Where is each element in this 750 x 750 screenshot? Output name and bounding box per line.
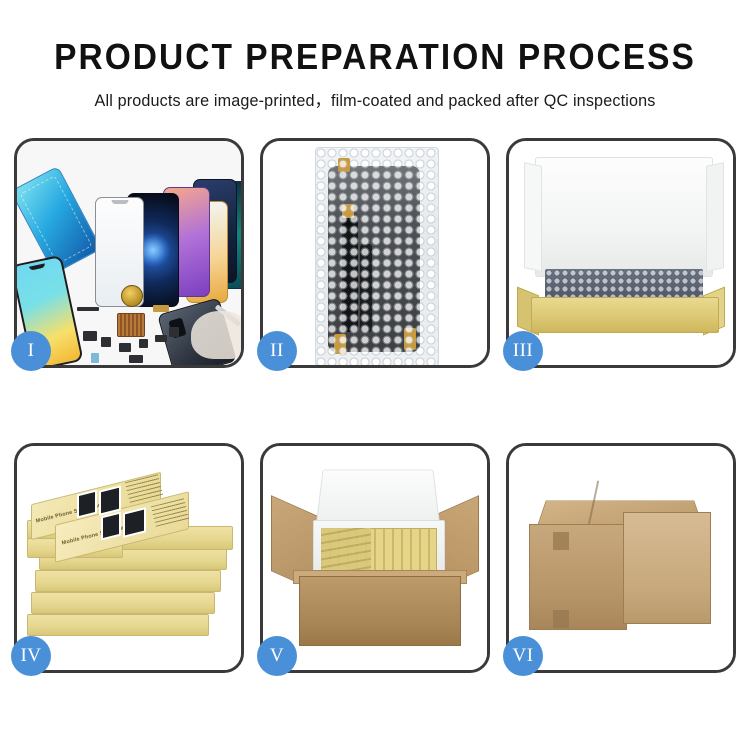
small-part xyxy=(153,305,169,312)
bubble-wrap-bag xyxy=(315,147,439,365)
carton-front-face xyxy=(529,524,627,630)
page-header: PRODUCT PREPARATION PROCESS All products… xyxy=(0,0,750,111)
carton-side-face xyxy=(623,512,711,624)
step-badge-4: IV xyxy=(11,636,51,676)
step-badge-3: III xyxy=(503,331,543,371)
packed-yellow-boxes xyxy=(321,528,371,570)
small-part xyxy=(155,335,167,342)
yellow-box-front xyxy=(531,297,719,333)
small-part xyxy=(101,337,111,347)
white-box-lid xyxy=(535,157,713,277)
box-window xyxy=(77,490,97,519)
step-2-image xyxy=(263,141,487,365)
step-badge-1: I xyxy=(11,331,51,371)
process-step-grid: I II xyxy=(14,138,736,673)
stacked-box xyxy=(27,614,209,636)
step-3-image xyxy=(509,141,733,365)
hand xyxy=(191,311,241,359)
box-stack: Mobile Phone Spare Parts Mobile Phone Sp… xyxy=(27,464,237,660)
process-step-1: I xyxy=(14,138,244,368)
carton-tape xyxy=(553,610,569,628)
process-step-4: Mobile Phone Spare Parts Mobile Phone Sp… xyxy=(14,443,244,673)
step-badge-5: V xyxy=(257,636,297,676)
carton-tape xyxy=(553,532,569,550)
stacked-box xyxy=(35,570,221,592)
gold-connector xyxy=(334,334,346,354)
small-part xyxy=(139,339,148,348)
gold-connector xyxy=(338,158,350,172)
step-badge-6: VI xyxy=(503,636,543,676)
gold-connector xyxy=(342,204,354,218)
page-title: PRODUCT PREPARATION PROCESS xyxy=(26,38,724,76)
step-6-image xyxy=(509,446,733,670)
flex-cable xyxy=(342,220,358,332)
process-step-6: VI xyxy=(506,443,736,673)
carton-body xyxy=(299,576,461,646)
speaker-coil-part xyxy=(121,285,143,307)
process-step-5: V xyxy=(260,443,490,673)
spare-parts-cluster xyxy=(77,291,195,365)
step-1-image xyxy=(17,141,241,365)
box-window xyxy=(101,512,121,541)
small-part xyxy=(129,355,143,363)
flex-cable xyxy=(360,244,372,332)
gold-connector xyxy=(404,328,416,350)
product-preparation-page: PRODUCT PREPARATION PROCESS All products… xyxy=(0,0,750,750)
small-part xyxy=(77,307,99,311)
step-5-image xyxy=(263,446,487,670)
logic-board-part xyxy=(117,313,145,337)
process-step-2: II xyxy=(260,138,490,368)
small-part xyxy=(169,327,179,337)
step-badge-2: II xyxy=(257,331,297,371)
process-step-3: III xyxy=(506,138,736,368)
small-part xyxy=(83,331,97,341)
small-part xyxy=(91,353,99,363)
stacked-box xyxy=(31,592,215,614)
page-subtitle: All products are image-printed，film-coat… xyxy=(8,87,743,111)
step-4-image: Mobile Phone Spare Parts Mobile Phone Sp… xyxy=(17,446,241,670)
small-part xyxy=(119,343,131,352)
